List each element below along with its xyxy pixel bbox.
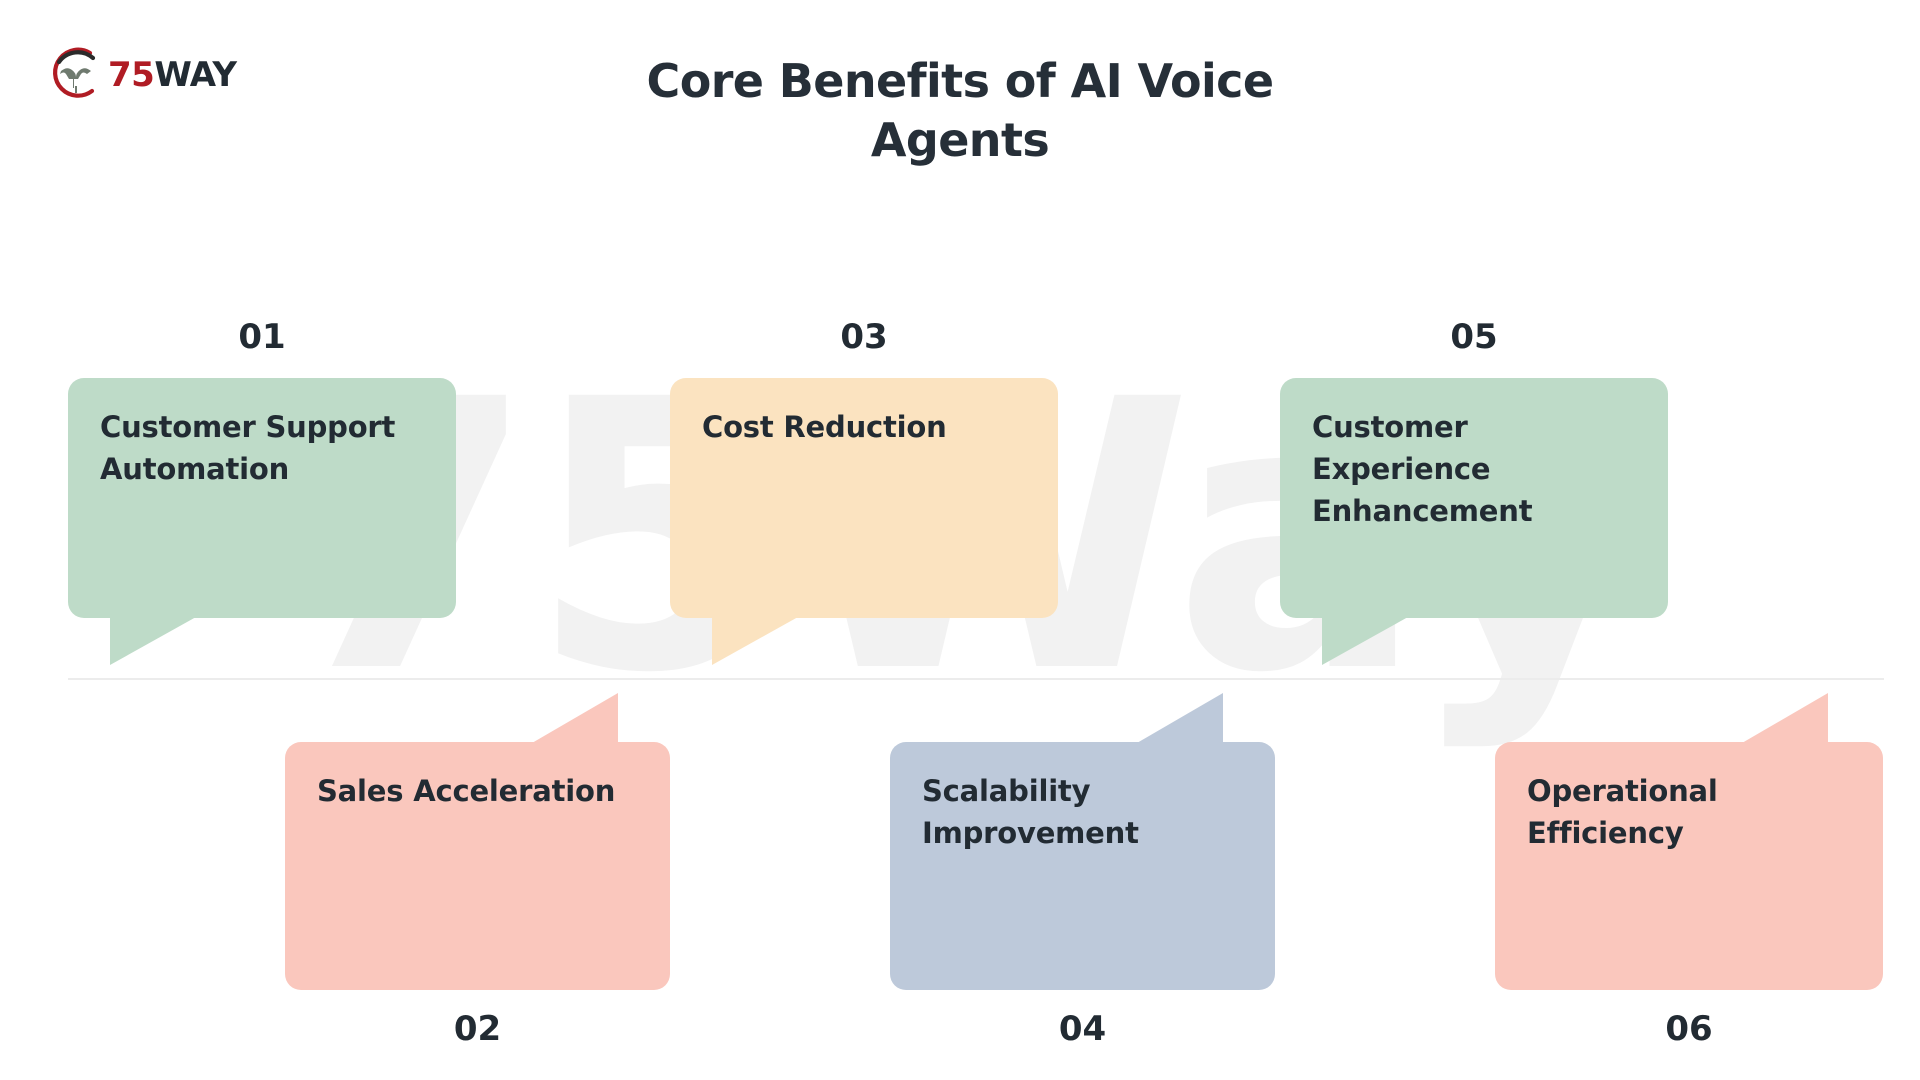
benefit-card-06-tail — [1738, 693, 1828, 743]
brand-logo[interactable]: 75WAY — [46, 44, 236, 106]
card-number-04: 04 — [890, 1012, 1275, 1046]
logo-text-75: 75 — [108, 55, 154, 95]
benefit-card-01-label: Customer Support Automation — [100, 406, 434, 490]
benefit-card-02-tail — [528, 693, 618, 743]
page-title: Core Benefits of AI Voice Agents — [580, 52, 1340, 170]
benefit-card-04[interactable]: Scalability Improvement — [890, 742, 1275, 990]
benefit-card-05-label: Customer Experience Enhancement — [1312, 406, 1646, 532]
benefit-card-03-label: Cost Reduction — [702, 406, 1036, 448]
benefit-card-04-label: Scalability Improvement — [922, 770, 1253, 854]
benefit-card-03[interactable]: Cost Reduction — [670, 378, 1058, 618]
benefit-card-05-tail — [1322, 617, 1412, 667]
center-divider-line — [68, 678, 1884, 680]
card-number-03: 03 — [670, 320, 1058, 354]
infographic-canvas: 75Way 75WAY Core Benefits of AI Voice Ag… — [0, 0, 1920, 1080]
card-number-01: 01 — [68, 320, 456, 354]
benefit-card-04-tail — [1133, 693, 1223, 743]
benefit-card-01-tail — [110, 617, 200, 667]
benefit-card-01[interactable]: Customer Support Automation — [68, 378, 456, 618]
logo-wordmark: 75WAY — [108, 58, 236, 92]
benefit-card-03-tail — [712, 617, 802, 667]
benefit-card-02[interactable]: Sales Acceleration — [285, 742, 670, 990]
logo-text-way: WAY — [154, 55, 236, 95]
benefit-card-06-label: Operational Efficiency — [1527, 770, 1861, 854]
card-number-02: 02 — [285, 1012, 670, 1046]
benefit-card-02-label: Sales Acceleration — [317, 770, 648, 812]
card-number-05: 05 — [1280, 320, 1668, 354]
card-number-06: 06 — [1495, 1012, 1883, 1046]
75way-circular-bird-logo-icon — [46, 45, 106, 105]
benefit-card-06[interactable]: Operational Efficiency — [1495, 742, 1883, 990]
benefit-card-05[interactable]: Customer Experience Enhancement — [1280, 378, 1668, 618]
